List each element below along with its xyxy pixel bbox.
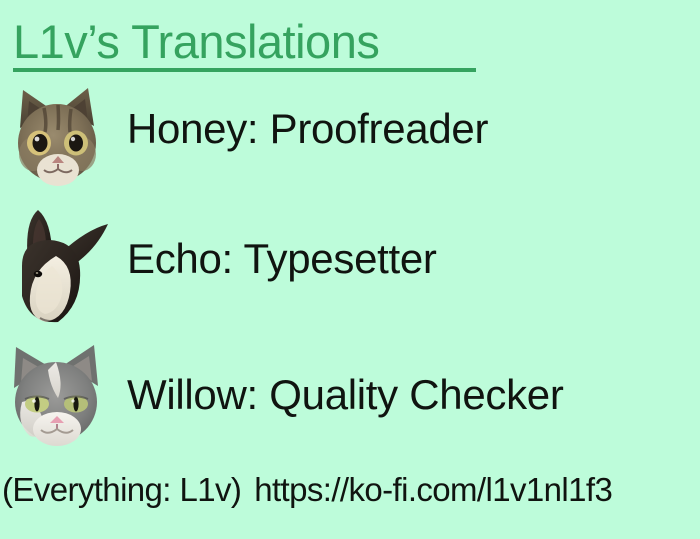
credit-label-honey: Honey: Proofreader	[127, 106, 488, 152]
credit-row: Echo: Typesetter	[0, 200, 700, 318]
credit-label-willow: Willow: Quality Checker	[127, 372, 564, 418]
cat-portrait-honey	[0, 82, 120, 200]
ko-fi-link[interactable]: https://ko-fi.com/l1v1nl1f3	[254, 471, 612, 508]
credit-label-echo: Echo: Typesetter	[127, 236, 437, 282]
footer-everything-credit: (Everything: L1v)	[2, 471, 241, 508]
page-title: L1v’s Translations	[13, 17, 673, 67]
title-block: L1v’s Translations	[13, 17, 673, 75]
title-underline	[13, 68, 476, 72]
footer-line: (Everything: L1v)https://ko-fi.com/l1v1n…	[2, 471, 700, 509]
credit-row: Willow: Quality Checker	[0, 340, 700, 458]
translation-credits-card: L1v’s Translations	[0, 0, 700, 539]
cat-portrait-echo	[0, 200, 120, 318]
credit-row: Honey: Proofreader	[0, 82, 700, 200]
cat-portrait-willow	[0, 340, 120, 458]
